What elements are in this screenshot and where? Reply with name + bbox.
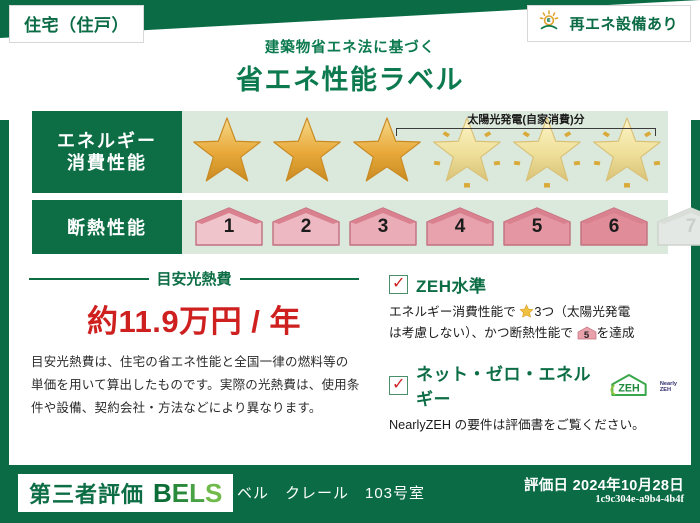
label-body-card: エネルギー 消費性能 太陽光発電(自家消費)分 断熱性能 1234567 目安 [9, 96, 691, 465]
zeh-standard-row: ✓ ZEH水準 [389, 272, 677, 297]
insulation-level-panel: 1234567 [182, 200, 668, 254]
insulation-level-number: 1 [192, 216, 266, 238]
zeh-desc-part1: エネルギー消費性能で [389, 305, 516, 319]
net-zero-description: NearlyZEH の要件は評価書をご覧ください。 [389, 415, 677, 436]
property-name: ベル クレール 103号室 [237, 482, 425, 503]
zeh-logo-icon: ZEH [607, 373, 651, 397]
solar-share-bracket: 太陽光発電(自家消費)分 [392, 113, 660, 135]
check-icon: ✓ [389, 376, 408, 395]
net-zero-energy-row: ✓ ネット・ゼロ・エネルギー ZEH Nearly ZEH [389, 360, 677, 410]
cost-heading-row: 目安光熱費 [29, 268, 359, 289]
solar-bracket-label: 太陽光発電(自家消費)分 [392, 111, 660, 127]
zeh-desc-part4: を達成 [597, 326, 635, 340]
footer-bar: 第三者評価 BELS ベル クレール 103号室 評価日 2024年10月28日… [0, 465, 700, 523]
evaluation-id: 1c9c304e-a9b4-4b4f [595, 494, 684, 505]
insulation-house-active: 2 [269, 205, 343, 249]
check-icon: ✓ [389, 275, 408, 294]
zeh-desc-part3: は考慮しない）、かつ断熱性能で [389, 326, 573, 340]
title-main: 省エネ性能ラベル [0, 58, 700, 97]
svg-text:ZEH: ZEH [618, 383, 639, 395]
cost-disclaimer-text: 目安光熱費は、住宅の省エネ性能と全国一律の燃料等の単価を用いて算出したものです。… [31, 351, 361, 420]
house-level-icon: 5 [577, 326, 597, 340]
renewable-energy-badge: 再エネ設備あり [527, 5, 691, 42]
insulation-house-active: 6 [577, 205, 651, 249]
certification-column: ✓ ZEH水準 エネルギー消費性能で 3つ（太陽光発電 は考慮しない）、かつ断熱… [389, 272, 677, 436]
insulation-performance-label: 断熱性能 [32, 200, 182, 254]
insulation-level-number: 5 [500, 216, 574, 238]
energy-label-line1: エネルギー [57, 130, 157, 153]
insulation-level-number: 2 [269, 216, 343, 238]
label-title-block: 建築物省エネ法に基づく 省エネ性能ラベル [0, 36, 700, 97]
energy-performance-row: エネルギー 消費性能 太陽光発電(自家消費)分 [32, 111, 668, 193]
insulation-house-group: 1234567 [182, 200, 668, 254]
third-party-eval-label: 第三者評価 [29, 477, 144, 509]
estimated-utility-cost-block: 目安光熱費 約11.9万円 / 年 [29, 268, 359, 341]
zeh-standard-title: ZEH水準 [416, 272, 487, 297]
energy-performance-label: エネルギー 消費性能 [32, 111, 182, 193]
insulation-house-active: 3 [346, 205, 420, 249]
nearly-zeh-tag: Nearly ZEH [660, 382, 677, 394]
solar-bracket-line [396, 128, 656, 136]
insulation-house-active: 1 [192, 205, 266, 249]
bels-plate: 第三者評価 BELS [18, 474, 233, 512]
insulation-level-number: 6 [577, 216, 651, 238]
star-icon [519, 304, 534, 318]
evaluation-date: 評価日 2024年10月28日 [524, 474, 684, 495]
energy-label-line2: 消費性能 [67, 152, 147, 175]
cost-rule-right [240, 278, 360, 280]
solar-sun-icon [538, 10, 562, 37]
star-icon-filled [188, 115, 266, 189]
insulation-house-inactive: 7 [654, 205, 700, 249]
cost-heading: 目安光熱費 [157, 268, 232, 289]
insulation-level-number: 3 [346, 216, 420, 238]
cost-rule-left [29, 278, 149, 280]
nearly-zeh-line2: ZEH [660, 388, 677, 394]
insulation-house-active: 5 [500, 205, 574, 249]
insulation-level-number: 7 [654, 216, 700, 238]
house-type-badge: 住宅（住戸） [9, 5, 144, 43]
insulation-house-active: 4 [423, 205, 497, 249]
star-icon-filled [268, 115, 346, 189]
energy-star-panel: 太陽光発電(自家消費)分 [182, 111, 668, 193]
net-zero-title: ネット・ゼロ・エネルギー [416, 360, 599, 410]
house-level-number: 5 [577, 328, 597, 343]
cost-value: 約11.9万円 / 年 [29, 296, 359, 341]
renewable-badge-label: 再エネ設備あり [569, 13, 678, 34]
insulation-level-number: 4 [423, 216, 497, 238]
bels-logo: BELS [153, 478, 222, 509]
zeh-standard-description: エネルギー消費性能で 3つ（太陽光発電 は考慮しない）、かつ断熱性能で 5 を達… [389, 302, 677, 343]
bels-energy-label: 住宅（住戸） 再エネ設備あり 建築物省エネ法に基づく 省エネ性能ラベル [0, 0, 700, 523]
zeh-desc-part2: 3つ（太陽光発電 [534, 305, 630, 319]
insulation-performance-row: 断熱性能 1234567 [32, 200, 668, 254]
